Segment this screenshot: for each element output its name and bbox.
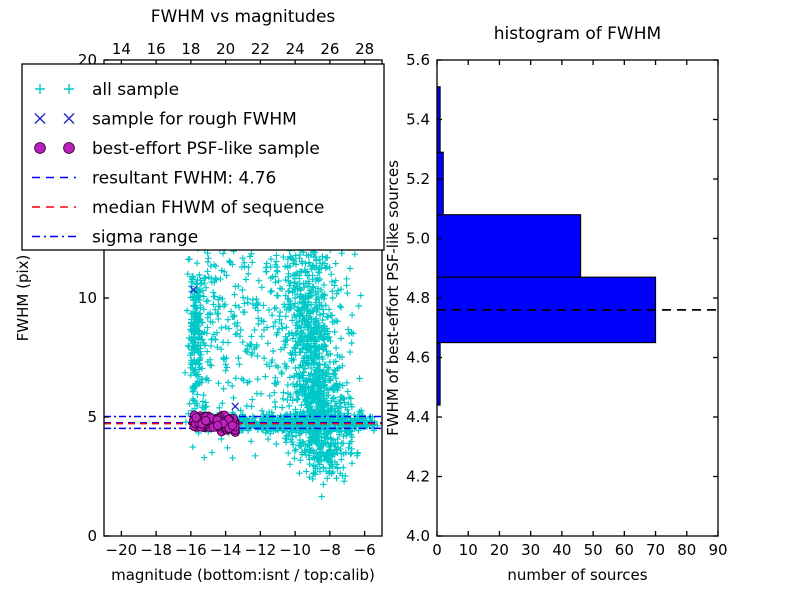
legend-item-label-0: all sample	[92, 80, 179, 100]
left-xtick-label-bottom: −8	[319, 541, 341, 559]
right-xtick-label: 0	[432, 541, 442, 559]
right-ytick-label: 5.2	[406, 170, 430, 188]
legend-marker-dot	[64, 143, 75, 154]
right-ytick-label: 4.8	[406, 289, 430, 307]
left-xtick-label-bottom: −18	[140, 541, 172, 559]
right-plot-title: histogram of FWHM	[494, 24, 661, 44]
left-yaxis-label: FWHM (pix)	[14, 255, 32, 342]
left-xtick-label-bottom: −12	[245, 541, 277, 559]
histogram-bar	[437, 152, 443, 214]
left-xtick-label-top: 18	[181, 40, 200, 58]
left-xtick-label-top: 14	[112, 40, 131, 58]
legend-item-label-5: sigma range	[92, 228, 198, 248]
right-yaxis-label: FWHM of best-effort PSF-like sources	[384, 160, 402, 436]
right-ytick-label: 4.4	[406, 408, 430, 426]
legend-item-label-3: resultant FWHM: 4.76	[92, 169, 276, 189]
left-xtick-label-bottom: −20	[106, 541, 138, 559]
right-xtick-label: 10	[459, 541, 478, 559]
right-xtick-label: 60	[615, 541, 634, 559]
right-xaxis-label: number of sources	[507, 566, 647, 584]
right-ytick-label: 5.4	[406, 111, 430, 129]
legend-box: all samplesample for rough FWHMbest-effo…	[22, 64, 384, 250]
left-ytick-label: 0	[87, 527, 97, 545]
left-xtick-label-bottom: −6	[354, 541, 376, 559]
right-ytick-label: 4.2	[406, 468, 430, 486]
psf-marker	[228, 421, 236, 429]
left-xtick-label-top: 22	[251, 40, 270, 58]
right-ytick-label: 4.0	[406, 527, 430, 545]
left-xaxis-label: magnitude (bottom:isnt / top:calib)	[111, 566, 375, 584]
left-xtick-label-top: 24	[286, 40, 305, 58]
right-xtick-label: 90	[708, 541, 727, 559]
left-ytick-label: 10	[78, 289, 97, 307]
left-xtick-label-bottom: −16	[175, 541, 207, 559]
histogram-bar	[437, 215, 581, 277]
histogram-data-layer	[437, 87, 718, 405]
left-xtick-label-bottom: −10	[279, 541, 311, 559]
right-xtick-label: 30	[521, 541, 540, 559]
left-xtick-label-top: 28	[355, 40, 374, 58]
legend-marker-dot	[35, 143, 46, 154]
left-xtick-label-top: 16	[147, 40, 166, 58]
left-xtick-label-top: 26	[320, 40, 339, 58]
legend-item-label-2: best-effort PSF-like sample	[92, 139, 320, 159]
left-xtick-label-top: 20	[216, 40, 235, 58]
left-ytick-label: 5	[87, 408, 97, 426]
left-plot-title: FWHM vs magnitudes	[151, 7, 336, 27]
right-xtick-label: 80	[677, 541, 696, 559]
right-xtick-label: 40	[552, 541, 571, 559]
psf-marker	[202, 416, 210, 424]
legend-item-label-4: median FHWM of sequence	[92, 198, 324, 218]
right-xtick-label: 50	[584, 541, 603, 559]
left-xtick-label-bottom: −14	[210, 541, 242, 559]
right-xtick-label: 70	[646, 541, 665, 559]
right-ytick-label: 4.6	[406, 349, 430, 367]
right-ytick-label: 5.6	[406, 51, 430, 69]
psf-marker	[213, 421, 221, 429]
legend-item-label-1: sample for rough FWHM	[92, 110, 297, 130]
right-ytick-label: 5.0	[406, 230, 430, 248]
right-xtick-label: 20	[490, 541, 509, 559]
matplotlib-figure: −20−18−16−14−12−10−8−6141618202224262805…	[0, 0, 800, 600]
figure-canvas: −20−18−16−14−12−10−8−6141618202224262805…	[0, 0, 800, 600]
